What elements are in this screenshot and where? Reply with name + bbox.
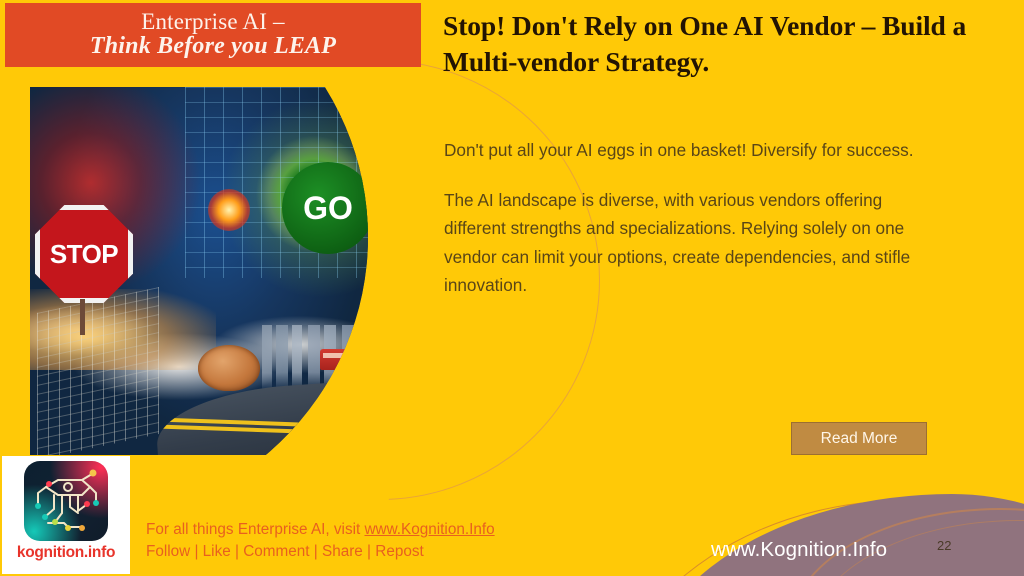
stop-sign-label: STOP [50, 239, 118, 270]
circuit-path-icon [37, 288, 159, 455]
footer-line-1-prefix: For all things Enterprise AI, visit [146, 521, 365, 538]
brain-glow-icon [208, 189, 250, 231]
header-banner-line1: Enterprise AI – [141, 10, 285, 35]
footer-site-link[interactable]: www.Kognition.Info [365, 521, 495, 538]
logo-wordmark: kognition.info [17, 544, 115, 562]
go-sign-label: GO [303, 190, 353, 227]
body-paragraph-2: The AI landscape is diverse, with variou… [444, 186, 934, 299]
footer-text: For all things Enterprise AI, visit www.… [146, 519, 495, 562]
page-number: 22 [937, 538, 951, 553]
circuit-bird-glyph-icon [24, 461, 108, 541]
bus-icon [320, 349, 366, 370]
footer-line-2[interactable]: Follow | Like | Comment | Share | Repost [146, 541, 495, 563]
slide-canvas: Enterprise AI – Think Before you LEAP St… [0, 0, 1024, 576]
body-copy: Don't put all your AI eggs in one basket… [444, 136, 934, 299]
page-title: Stop! Don't Rely on One AI Vendor – Buil… [443, 8, 1013, 80]
hero-illustration: STOP GO [30, 87, 368, 455]
header-banner: Enterprise AI – Think Before you LEAP [5, 3, 421, 67]
brain-icon [198, 345, 260, 391]
footer-site-url[interactable]: www.Kognition.Info [711, 538, 887, 562]
stop-sign-post [80, 299, 85, 335]
kognition-circuit-logo-icon [24, 461, 108, 541]
city-skyline-icon [258, 325, 368, 391]
read-more-button[interactable]: Read More [791, 422, 927, 455]
header-banner-line2: Think Before you LEAP [90, 34, 336, 60]
go-sign-icon: GO [282, 162, 368, 254]
body-paragraph-1: Don't put all your AI eggs in one basket… [444, 136, 934, 164]
logo-block[interactable]: kognition.info [2, 456, 130, 574]
footer-line-1: For all things Enterprise AI, visit www.… [146, 519, 495, 541]
